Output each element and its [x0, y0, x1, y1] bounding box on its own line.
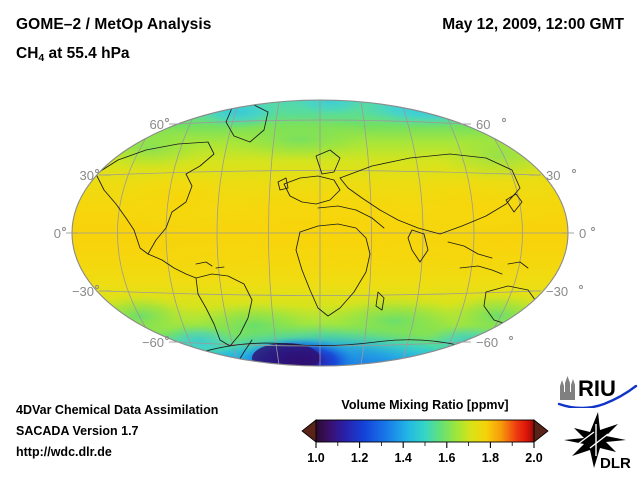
colorbar-tick-4: 1.6: [438, 451, 455, 465]
map-plot: 60 30 0 −30 −60 60 30 0 −30 −60: [0, 78, 640, 388]
colorbar: Volume Mixing Ratio [ppmv]: [300, 398, 550, 468]
colorbar-extend-low: [302, 420, 316, 442]
riu-logo: RIU: [556, 374, 638, 408]
colorbar-extend-high: [534, 420, 548, 442]
colorbar-title: Volume Mixing Ratio [ppmv]: [300, 398, 550, 412]
footer-line-method: 4DVar Chemical Data Assimilation: [16, 400, 218, 421]
colorbar-tick-6: 2.0: [525, 451, 542, 465]
colorbar-tick-5: 1.8: [482, 451, 499, 465]
lat-label-left-30: 30: [80, 168, 94, 183]
colorbar-gradient: [316, 420, 534, 442]
colorbar-minor-ticks: [338, 442, 512, 446]
footer-line-url[interactable]: http://wdc.dlr.de: [16, 442, 218, 463]
lat-label-right-m60: −60: [476, 335, 498, 350]
colorbar-tick-3: 1.4: [395, 451, 412, 465]
lat-label-left-60: 60: [150, 117, 164, 132]
colorbar-tick-labels: 1.0 1.2 1.4 1.6 1.8 2.0: [307, 451, 542, 465]
colorbar-tick-2: 1.2: [351, 451, 368, 465]
colorbar-tick-1: 1.0: [307, 451, 324, 465]
species-subscript: 4: [38, 52, 44, 64]
dlr-logo: DLR: [560, 410, 638, 472]
lat-label-left-m60: −60: [142, 335, 164, 350]
lat-label-right-0: 0: [579, 226, 586, 241]
species-name: CH: [16, 45, 38, 62]
riu-tower-icon: [560, 376, 575, 400]
lat-label-right-60: 60: [476, 117, 490, 132]
lat-label-left-m30: −30: [72, 284, 94, 299]
lat-label-right-30: 30: [546, 168, 560, 183]
lat-label-left-0: 0: [54, 226, 61, 241]
lat-label-right-m30: −30: [546, 284, 568, 299]
level-text: at 55.4 hPa: [44, 45, 129, 62]
species-level-label: CH4 at 55.4 hPa: [16, 45, 130, 63]
dlr-wordmark: DLR: [600, 455, 631, 472]
datetime-label: May 12, 2009, 12:00 GMT: [442, 16, 624, 34]
page-title: GOME–2 / MetOp Analysis: [16, 16, 212, 34]
riu-wordmark: RIU: [578, 376, 616, 401]
footer-text-block: 4DVar Chemical Data Assimilation SACADA …: [16, 400, 218, 463]
footer-line-version: SACADA Version 1.7: [16, 421, 218, 442]
